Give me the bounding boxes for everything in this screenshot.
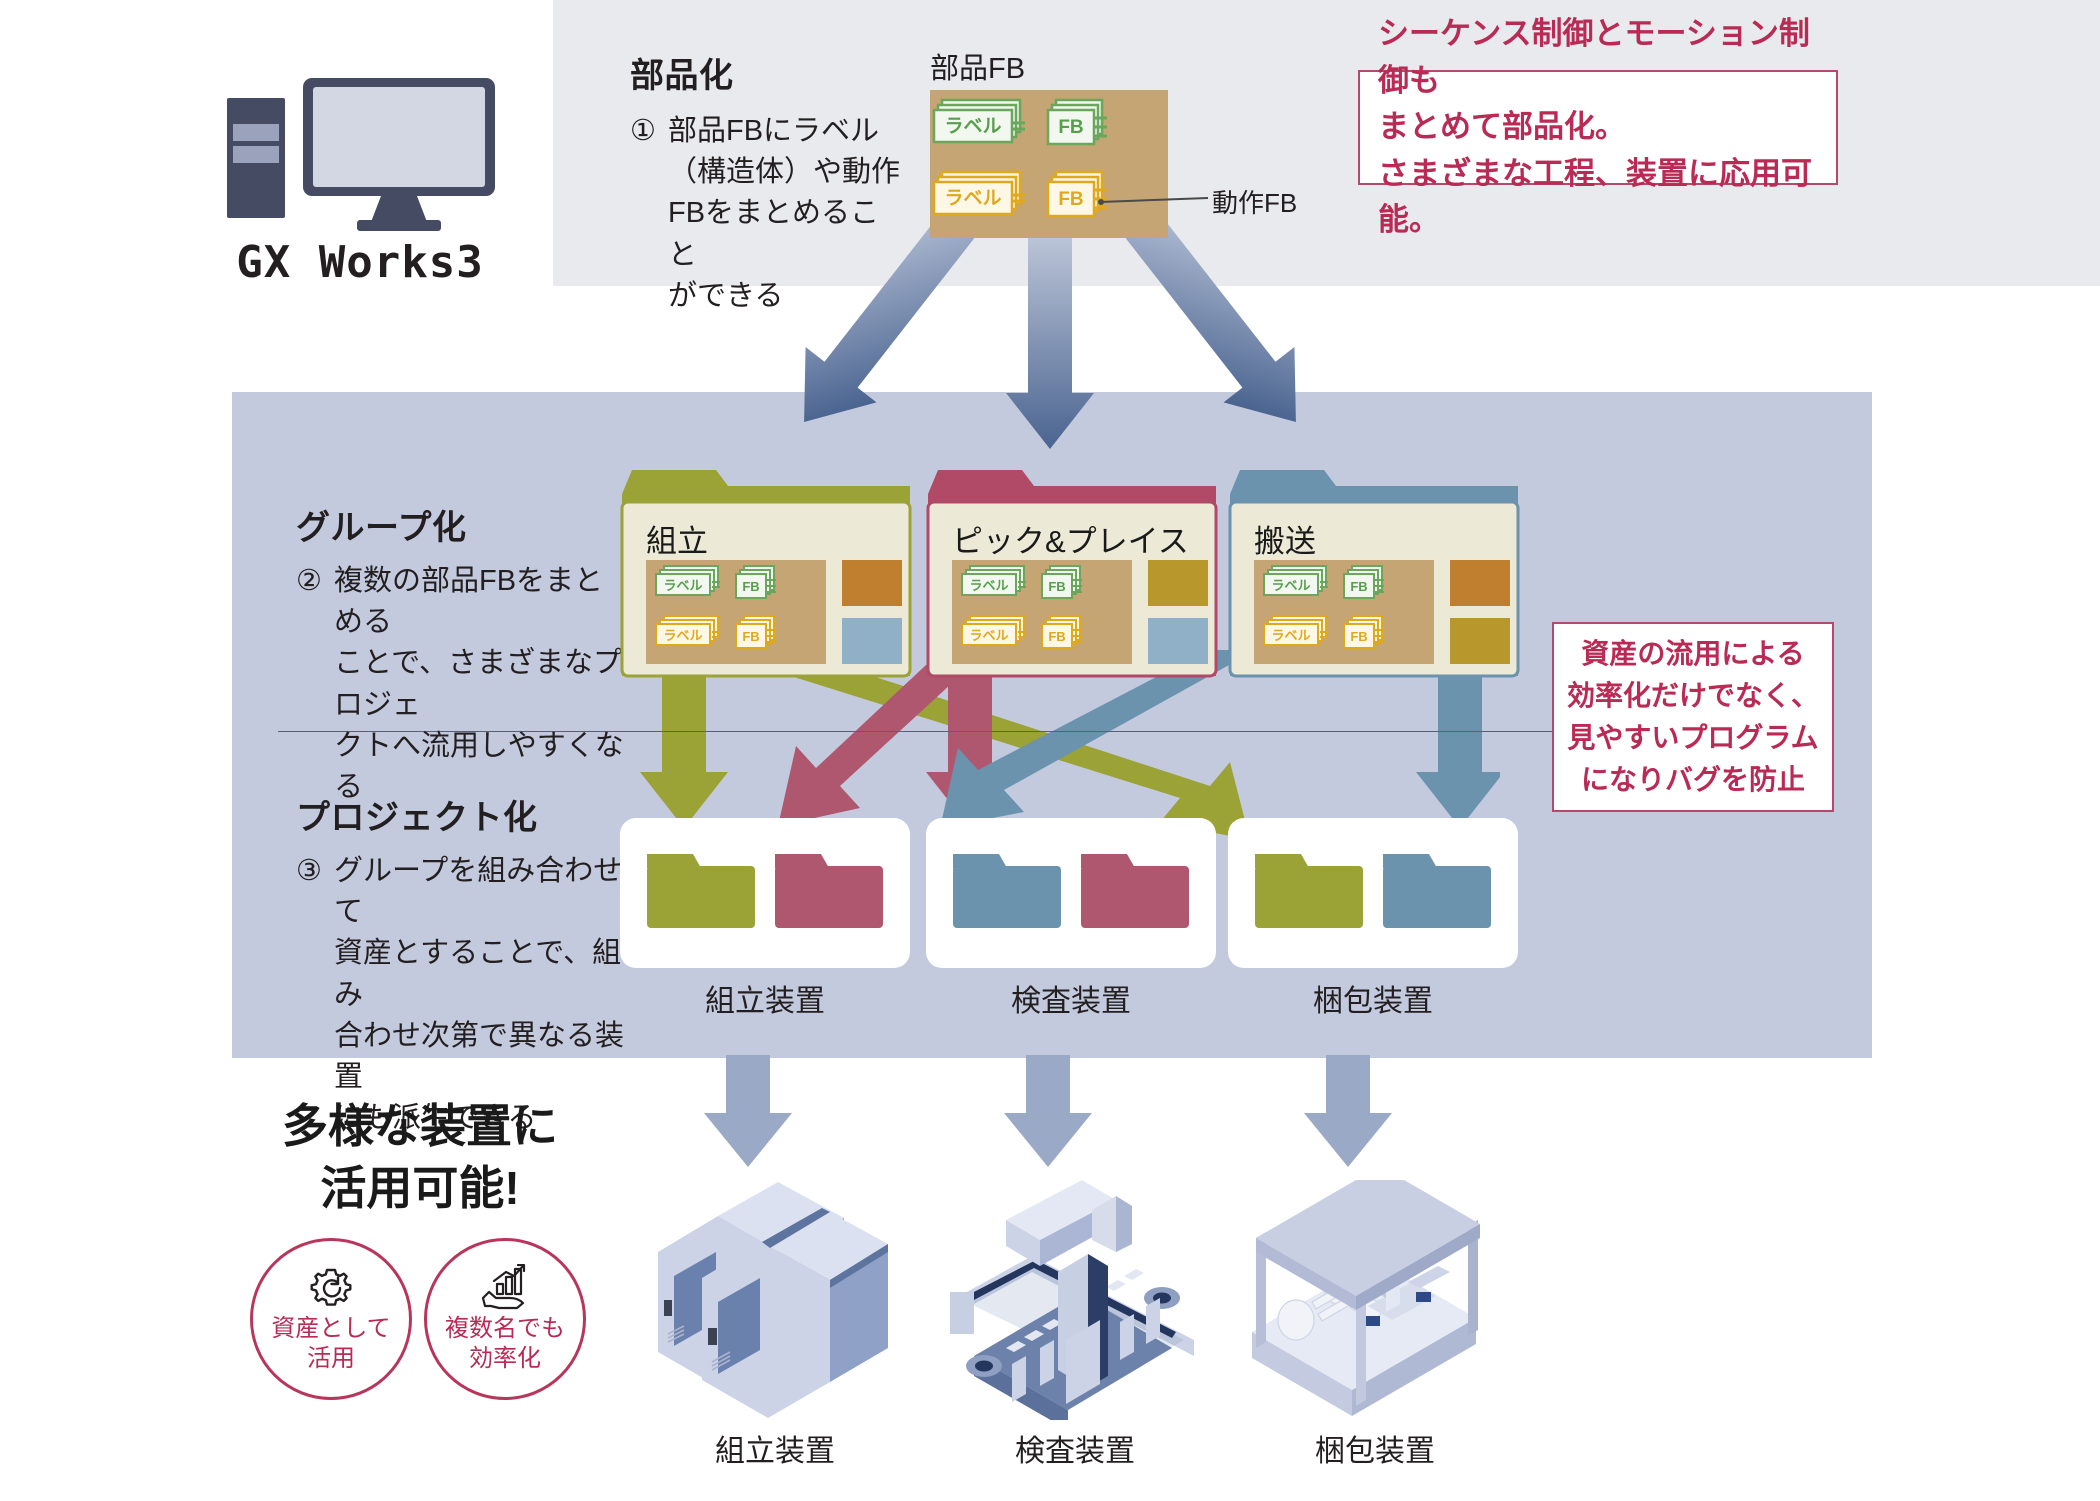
parts-fb-tile: ラベル FB ラベル FB <box>930 90 1168 238</box>
parts-fb-heading: 部品FB <box>930 45 1025 87</box>
project-caption-packaging: 梱包装置 <box>1228 976 1518 1020</box>
badge-line2: 効率化 <box>445 1344 565 1374</box>
group-swatch-bottom <box>842 618 902 664</box>
group-swatch-bottom <box>1450 618 1510 664</box>
group-fb-tile: ラベル FB ラベル FB <box>952 560 1132 664</box>
bottom-headline-line1: 多様な装置に <box>255 1095 585 1157</box>
group-name: 搬送 <box>1254 516 1316 561</box>
machine-inspection: 検査装置 <box>940 1180 1210 1460</box>
group-folder-transfer[interactable]: 搬送 ラベル FB ラベル <box>1228 468 1522 680</box>
callout-top-line1: シーケンス制御とモーション制御も <box>1378 11 1818 104</box>
svg-text:FB: FB <box>1350 579 1367 594</box>
step-group-body: 複数の部品FBをまとめる ことで、さまざまなプロジェ クトへ流用しやすくなる <box>334 561 626 808</box>
svg-text:FB: FB <box>1048 629 1065 644</box>
badge-multi-person-efficiency[interactable]: 複数名でも 効率化 <box>424 1238 586 1400</box>
fb-cards-mini: ラベル FB ラベル FB <box>1254 560 1434 664</box>
motion-fb-label: 動作FB <box>1212 183 1297 220</box>
badge-asset-utilization[interactable]: 資産として 活用 <box>250 1238 412 1400</box>
machine-caption-assembly: 組立装置 <box>640 1426 910 1470</box>
gxworks3-logo: GX Works3 <box>215 70 505 285</box>
step-project: プロジェクト化 ③ グループを組み合わせて 資産とすることで、組み 合わせ次第で… <box>296 790 636 1139</box>
svg-text:FB: FB <box>742 579 759 594</box>
group-folder-pickplace[interactable]: ピック&プレイス ラベル FB ラベル <box>926 468 1220 680</box>
step-group-marker: ② <box>296 561 334 808</box>
gear-icon <box>308 1264 354 1310</box>
project-folders-assembly <box>645 846 891 942</box>
svg-text:ラベル: ラベル <box>969 628 1008 643</box>
group-folder-assembly[interactable]: 組立 ラベル FB ラベル <box>620 468 914 680</box>
svg-text:FB: FB <box>742 629 759 644</box>
badge-line2: 活用 <box>271 1344 390 1374</box>
project-caption-inspection: 検査装置 <box>926 976 1216 1020</box>
fb-cards-mini: ラベル FB ラベル FB <box>952 560 1132 664</box>
computer-icon <box>215 70 505 235</box>
svg-text:FB: FB <box>1058 189 1083 210</box>
step-parts-body: 部品FBにラベル （構造体）や動作 FBをまとめること ができる <box>668 111 900 317</box>
svg-text:ラベル: ラベル <box>663 628 702 643</box>
group-swatch-bottom <box>1148 618 1208 664</box>
motion-fb-leader-line <box>1098 190 1216 210</box>
callout-right-line2: 効率化だけでなく、 <box>1567 675 1819 717</box>
callout-right: 資産の流用による 効率化だけでなく、 見やすいプログラム になりバグを防止 <box>1552 622 1834 812</box>
group-swatch-top <box>1148 560 1208 606</box>
svg-text:ラベル: ラベル <box>969 578 1008 593</box>
fb-cards-group: ラベル FB ラベル FB <box>930 90 1168 238</box>
svg-text:ラベル: ラベル <box>1271 628 1310 643</box>
step-parts: 部品化 ① 部品FBにラベル （構造体）や動作 FBをまとめること ができる <box>630 48 900 317</box>
svg-text:ラベル: ラベル <box>944 116 1001 137</box>
project-caption-assembly: 組立装置 <box>620 976 910 1020</box>
packaging-machine-icon <box>1240 1180 1510 1420</box>
fb-cards-mini: ラベル FB ラベル FB <box>646 560 826 664</box>
svg-text:ラベル: ラベル <box>944 188 1001 209</box>
svg-text:ラベル: ラベル <box>1271 578 1310 593</box>
bottom-headline: 多様な装置に 活用可能! <box>255 1095 585 1219</box>
group-fb-tile: ラベル FB ラベル FB <box>1254 560 1434 664</box>
callout-top: シーケンス制御とモーション制御も まとめて部品化。 さまざまな工程、装置に応用可… <box>1358 70 1838 185</box>
callout-right-line4: になりバグを防止 <box>1567 759 1819 801</box>
step-group: グループ化 ② 複数の部品FBをまとめる ことで、さまざまなプロジェ クトへ流用… <box>296 500 626 808</box>
step-parts-title: 部品化 <box>630 48 900 97</box>
hand-growth-chart-icon <box>480 1264 530 1310</box>
diagram-root: GX Works3 部品化 ① 部品FBにラベル （構造体）や動作 FBをまとめ… <box>0 0 2100 1501</box>
badge-line1: 複数名でも <box>445 1314 565 1344</box>
assembly-machine-icon <box>640 1170 910 1420</box>
machine-packaging: 梱包装置 <box>1240 1180 1510 1460</box>
callout-top-line3: さまざまな工程、装置に応用可能。 <box>1378 151 1818 244</box>
callout-right-line1: 資産の流用による <box>1567 633 1819 675</box>
group-swatch-top <box>842 560 902 606</box>
inspection-machine-icon <box>940 1180 1210 1420</box>
svg-text:FB: FB <box>1350 629 1367 644</box>
machine-assembly: 組立装置 <box>640 1170 910 1460</box>
project-folders-packaging <box>1253 846 1499 942</box>
step-parts-marker: ① <box>630 111 668 317</box>
callout-right-line3: 見やすいプログラム <box>1567 717 1819 759</box>
group-name: 組立 <box>646 516 708 561</box>
machine-caption-packaging: 梱包装置 <box>1240 1426 1510 1470</box>
step-project-title: プロジェクト化 <box>296 790 636 839</box>
group-name: ピック&プレイス <box>952 516 1189 561</box>
machine-caption-inspection: 検査装置 <box>940 1426 1210 1470</box>
bottom-headline-line2: 活用可能! <box>255 1157 585 1219</box>
svg-text:ラベル: ラベル <box>663 578 702 593</box>
group-swatch-top <box>1450 560 1510 606</box>
badge-line1: 資産として <box>271 1314 390 1344</box>
projects-to-machines-arrows <box>700 1055 1400 1175</box>
callout-top-line2: まとめて部品化。 <box>1378 104 1818 151</box>
svg-text:FB: FB <box>1058 117 1083 138</box>
step-group-title: グループ化 <box>296 500 626 549</box>
project-folders-inspection <box>951 846 1197 942</box>
logo-wordmark: GX Works3 <box>215 237 505 288</box>
group-fb-tile: ラベル FB ラベル FB <box>646 560 826 664</box>
svg-text:FB: FB <box>1048 579 1065 594</box>
